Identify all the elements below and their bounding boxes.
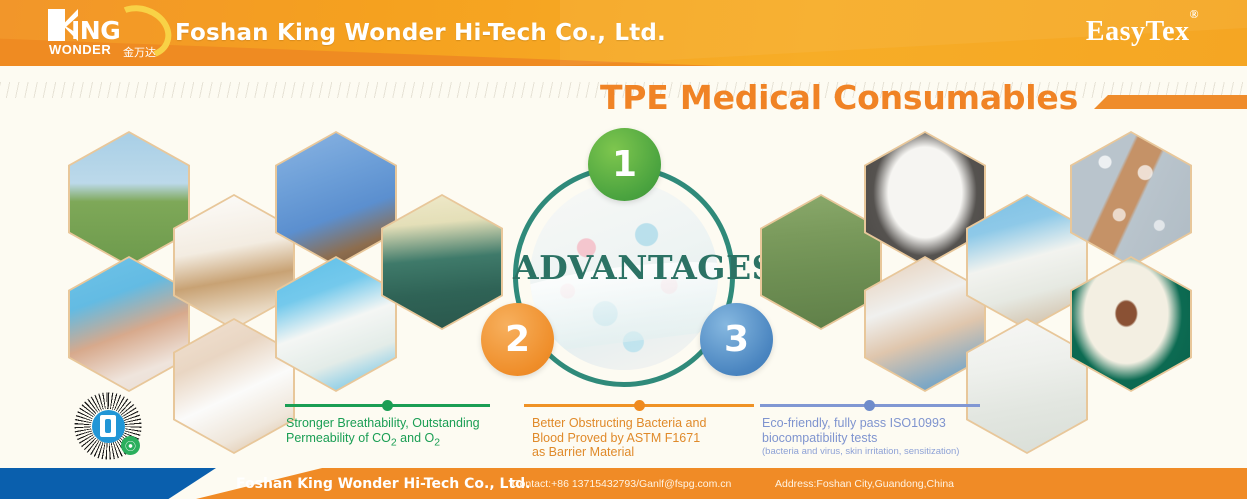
footer-bar: Foshan King Wonder Hi-Tech Co., Ltd. Con… (0, 468, 1247, 499)
company-logo[interactable]: ING WONDER 金万达 (48, 6, 160, 58)
tpe-medical-consumables-banner: ING WONDER 金万达 Foshan King Wonder Hi-Tec… (0, 0, 1247, 499)
brand-easytex: EasyTex® (1086, 16, 1199, 48)
qr-code-glyph-icon (100, 415, 116, 437)
logo-chinese-text: 金万达 (123, 44, 156, 60)
advantage-1-sub2: 2 (434, 437, 440, 448)
hex-image (1072, 133, 1190, 265)
advantage-bubble-2[interactable]: 2 (481, 303, 554, 376)
advantage-bubble-3[interactable]: 3 (700, 303, 773, 376)
advantage-3-subtext: (bacteria and virus, skin irritation, se… (762, 446, 1012, 457)
hex-image (70, 133, 188, 265)
hex-image (762, 196, 880, 328)
advantage-2-line1: Better Obstructing Bacteria and (532, 416, 706, 430)
footer-address-info: Address:Foshan City,Guandong,China (775, 478, 954, 490)
advantage-bubble-1[interactable]: 1 (588, 128, 661, 201)
hex-tile-water-droplets-barrier (1070, 131, 1192, 267)
logo-mark-text: ING (71, 16, 120, 45)
advantage-2-line3: as Barrier Material (532, 445, 634, 459)
page-title: TPE Medical Consumables (600, 78, 1078, 117)
advantage-3-line2: biocompatibility tests (762, 431, 877, 445)
hex-image (383, 196, 501, 328)
hex-tile-workers-coveralls (68, 131, 190, 267)
hex-image (1072, 258, 1190, 390)
advantages-label: ADVANTAGES (513, 248, 735, 287)
title-accent-bar (1094, 95, 1247, 109)
advantage-2-text: Better Obstructing Bacteria and Blood Pr… (532, 416, 757, 460)
hex-image (70, 258, 188, 390)
footer-blue-panel (0, 468, 216, 499)
advantage-1-dot-icon (382, 400, 393, 411)
hex-tile-hand-film (68, 256, 190, 392)
advantage-3-line1: Eco-friendly, fully pass ISO10993 (762, 416, 946, 430)
advantage-1-line2-pre: Permeability of CO (286, 431, 391, 445)
advantage-1-divider (285, 404, 490, 407)
logo-wordmark: WONDER (49, 42, 111, 57)
registered-mark-icon: ® (1190, 7, 1199, 21)
hex-tile-surgical-team (381, 194, 503, 330)
logo-k-stem-icon (48, 9, 65, 41)
advantage-1-line1: Stronger Breathability, Outstanding (286, 416, 480, 430)
advantage-3-dot-icon (864, 400, 875, 411)
header-company-name: Foshan King Wonder Hi-Tech Co., Ltd. (175, 20, 666, 46)
footer-company-name: Foshan King Wonder Hi-Tech Co., Ltd. (236, 476, 531, 492)
brand-name: EasyTex (1086, 16, 1190, 47)
advantage-3-divider (760, 404, 980, 407)
hex-tile-medics-stretcher (760, 194, 882, 330)
advantage-1-line2-mid: and O (397, 431, 435, 445)
advantage-1-text: Stronger Breathability, Outstanding Perm… (286, 416, 501, 451)
advantage-2-divider (524, 404, 754, 407)
wechat-miniprogram-badge-icon: ⦿ (121, 436, 140, 455)
hex-tile-film-roll-green (1070, 256, 1192, 392)
advantage-3-text: Eco-friendly, fully pass ISO10993 biocom… (762, 416, 997, 445)
header-bar: ING WONDER 金万达 Foshan King Wonder Hi-Tec… (0, 0, 1247, 66)
advantage-2-dot-icon (634, 400, 645, 411)
footer-contact-info[interactable]: Contact:+86 13715432793/Ganlf@fspg.com.c… (512, 478, 731, 490)
wechat-qr-code[interactable]: ⦿ (72, 392, 144, 460)
advantage-2-line2: Blood Proved by ASTM F1671 (532, 431, 700, 445)
